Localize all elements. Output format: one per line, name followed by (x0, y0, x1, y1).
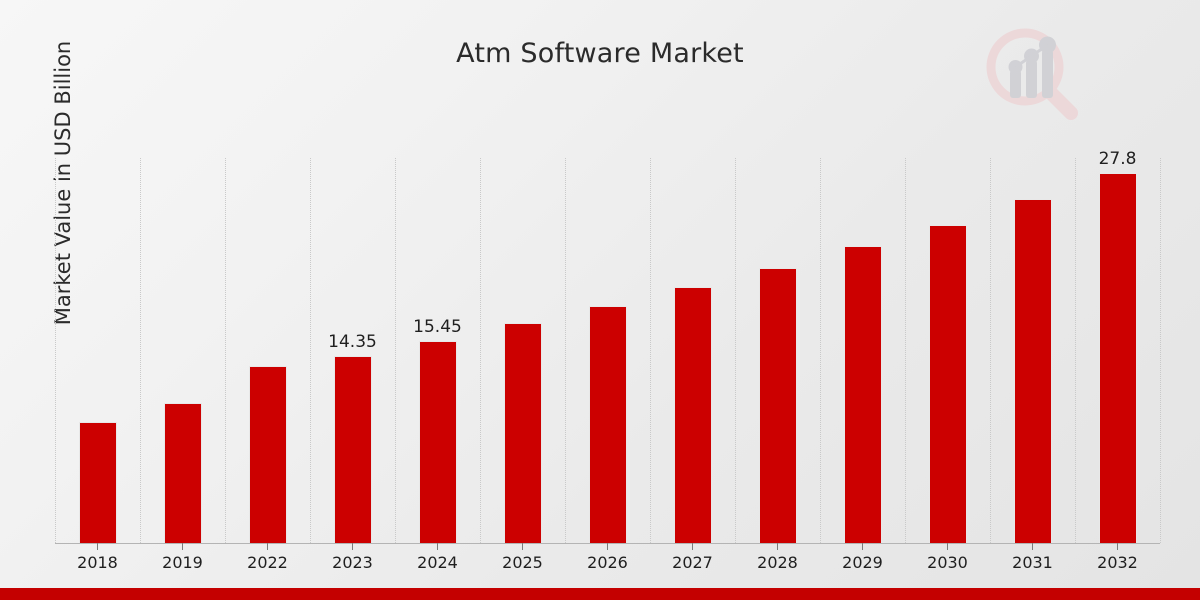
x-axis-label-2030: 2030 (905, 553, 990, 577)
bar-2031[interactable] (1014, 199, 1052, 543)
bar-slot (225, 158, 310, 543)
gridline (1160, 158, 1161, 543)
bar-slot (820, 158, 905, 543)
tick-slot (735, 543, 820, 551)
bar-2018[interactable] (79, 422, 117, 543)
bar-2029[interactable] (844, 246, 882, 543)
bar-2022[interactable] (249, 366, 287, 543)
bar-2028[interactable] (759, 268, 797, 543)
bar-2023[interactable] (334, 356, 372, 543)
bar-2026[interactable] (589, 306, 627, 543)
x-axis-label-2027: 2027 (650, 553, 735, 577)
bar-slot (55, 158, 140, 543)
x-axis-labels: 2018201920222023202420252026202720282029… (55, 553, 1160, 577)
x-axis-label-2031: 2031 (990, 553, 1075, 577)
tick-mark-2025 (522, 543, 523, 550)
bar-slot (140, 158, 225, 543)
bar-2027[interactable] (674, 287, 712, 543)
tick-mark-2032 (1117, 543, 1118, 550)
tick-mark-2026 (607, 543, 608, 550)
plot-area: 14.3515.4527.8 (55, 158, 1160, 543)
bar-2030[interactable] (929, 225, 967, 543)
x-axis-label-2019: 2019 (140, 553, 225, 577)
bar-value-label: 27.8 (1073, 149, 1163, 169)
tick-slot (225, 543, 310, 551)
bar-value-label: 14.35 (308, 332, 398, 352)
bar-slot (990, 158, 1075, 543)
bar-series: 14.3515.4527.8 (55, 158, 1160, 543)
x-axis-label-2028: 2028 (735, 553, 820, 577)
tick-mark-2019 (182, 543, 183, 550)
x-axis-label-2026: 2026 (565, 553, 650, 577)
x-axis-label-2032: 2032 (1075, 553, 1160, 577)
tick-mark-2018 (97, 543, 98, 550)
bar-value-label: 15.45 (393, 317, 483, 337)
tick-mark-2029 (862, 543, 863, 550)
tick-mark-2024 (437, 543, 438, 550)
magnifier-bar-chart-logo-icon (975, 22, 1080, 122)
bar-2024[interactable] (419, 341, 457, 543)
bar-slot (905, 158, 990, 543)
x-axis-label-2018: 2018 (55, 553, 140, 577)
bar-slot: 14.35 (310, 158, 395, 543)
tick-mark-2030 (947, 543, 948, 550)
x-axis-label-2022: 2022 (225, 553, 310, 577)
tick-slot (395, 543, 480, 551)
footer-band (0, 588, 1200, 600)
bar-slot: 27.8 (1075, 158, 1160, 543)
tick-slot (565, 543, 650, 551)
tick-mark-2027 (692, 543, 693, 550)
tick-slot (480, 543, 565, 551)
bar-slot (565, 158, 650, 543)
tick-mark-2031 (1032, 543, 1033, 550)
tick-mark-2028 (777, 543, 778, 550)
x-axis-label-2023: 2023 (310, 553, 395, 577)
bar-2025[interactable] (504, 323, 542, 543)
bar-slot: 15.45 (395, 158, 480, 543)
x-axis-label-2029: 2029 (820, 553, 905, 577)
bar-slot (650, 158, 735, 543)
tick-slot (140, 543, 225, 551)
tick-mark-2023 (352, 543, 353, 550)
bar-2032[interactable] (1099, 173, 1137, 543)
tick-slot (905, 543, 990, 551)
bar-slot (480, 158, 565, 543)
bar-slot (735, 158, 820, 543)
bar-2019[interactable] (164, 403, 202, 543)
tick-slot (310, 543, 395, 551)
x-axis-label-2025: 2025 (480, 553, 565, 577)
tick-slot (650, 543, 735, 551)
tick-slot (55, 543, 140, 551)
chart-figure: Atm Software Market Market Value in USD … (0, 0, 1200, 600)
x-axis-label-2024: 2024 (395, 553, 480, 577)
tick-slot (990, 543, 1075, 551)
tick-slot (1075, 543, 1160, 551)
x-axis-ticks (55, 543, 1160, 551)
tick-mark-2022 (267, 543, 268, 550)
tick-slot (820, 543, 905, 551)
